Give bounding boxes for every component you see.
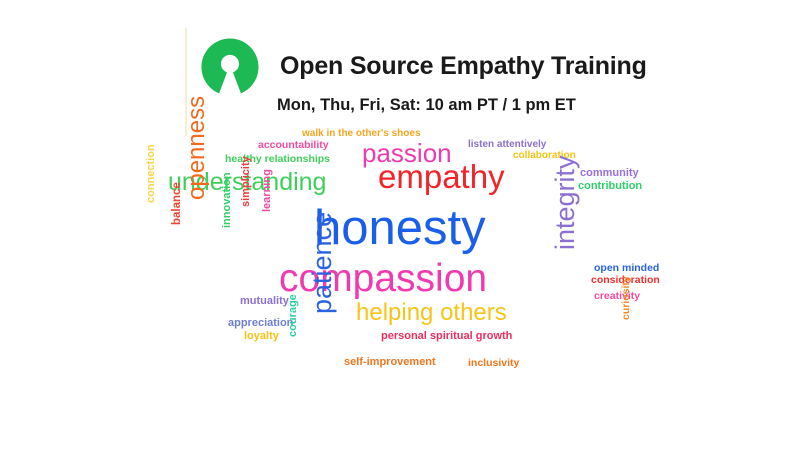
word-cloud-term: loyalty: [244, 331, 279, 342]
word-cloud-term: self-improvement: [344, 357, 436, 368]
word-cloud-term: contribution: [578, 181, 642, 192]
word-cloud-term: helping others: [356, 301, 507, 325]
word-cloud-term: honesty: [314, 204, 486, 253]
word-cloud: walk in the other's shoesaccountabilityl…: [0, 0, 800, 450]
word-cloud-term: accountability: [258, 140, 329, 151]
word-cloud-term: balance: [172, 182, 184, 225]
word-cloud-term: innovation: [222, 172, 233, 228]
word-cloud-term: connection: [146, 144, 157, 203]
word-cloud-term: inclusivity: [468, 358, 519, 369]
word-cloud-term: openness: [185, 96, 209, 200]
word-cloud-term: creativity: [594, 291, 640, 302]
word-cloud-term: simplicity: [241, 156, 252, 207]
word-cloud-term: integrity: [552, 155, 579, 250]
word-cloud-term: learning: [262, 169, 273, 212]
word-cloud-term: curiosity: [621, 276, 632, 320]
word-cloud-term: courage: [288, 294, 299, 337]
word-cloud-term: community: [580, 168, 639, 179]
word-cloud-term: empathy: [378, 160, 505, 193]
slide-canvas: Open Source Empathy Training Mon, Thu, F…: [0, 0, 800, 450]
word-cloud-term: open minded: [594, 263, 659, 274]
word-cloud-term: listen attentively: [468, 140, 546, 150]
word-cloud-term: patience: [309, 212, 336, 314]
word-cloud-term: appreciation: [228, 318, 293, 329]
word-cloud-term: mutuality: [240, 296, 289, 307]
word-cloud-term: personal spiritual growth: [381, 331, 512, 342]
